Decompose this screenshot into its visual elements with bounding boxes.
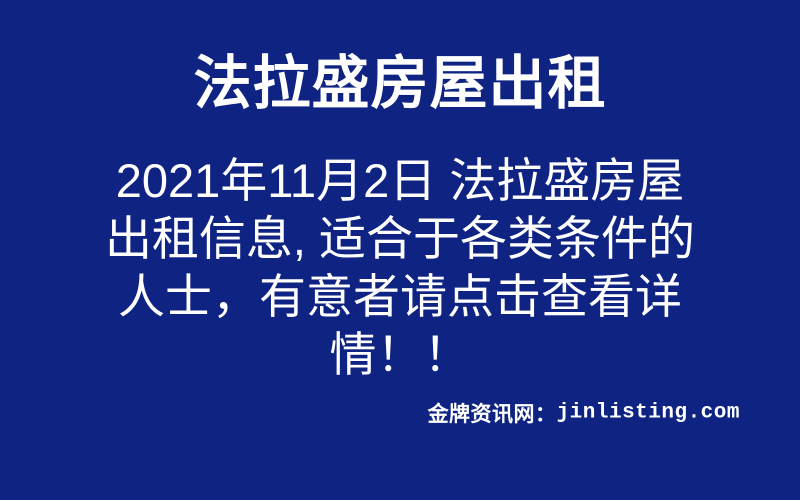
body-paragraph: 2021年11月2日 法拉盛房屋 出租信息, 适合于各类条件的 人士，有意者请点… <box>60 152 740 384</box>
body-line-1: 2021年11月2日 法拉盛房屋 <box>60 152 740 210</box>
footer-watermark: 金牌资讯网：jinlisting.com <box>0 398 800 428</box>
poster-canvas: 法拉盛房屋出租 2021年11月2日 法拉盛房屋 出租信息, 适合于各类条件的 … <box>0 0 800 500</box>
body-line-2: 出租信息, 适合于各类条件的 <box>60 210 740 268</box>
body-line-4: 情！！ <box>60 326 740 384</box>
page-title: 法拉盛房屋出租 <box>0 50 800 118</box>
website-url: jinlisting.com <box>557 402 740 425</box>
brand-label: 金牌资讯网： <box>428 403 557 426</box>
body-line-3: 人士，有意者请点击查看详 <box>60 268 740 326</box>
